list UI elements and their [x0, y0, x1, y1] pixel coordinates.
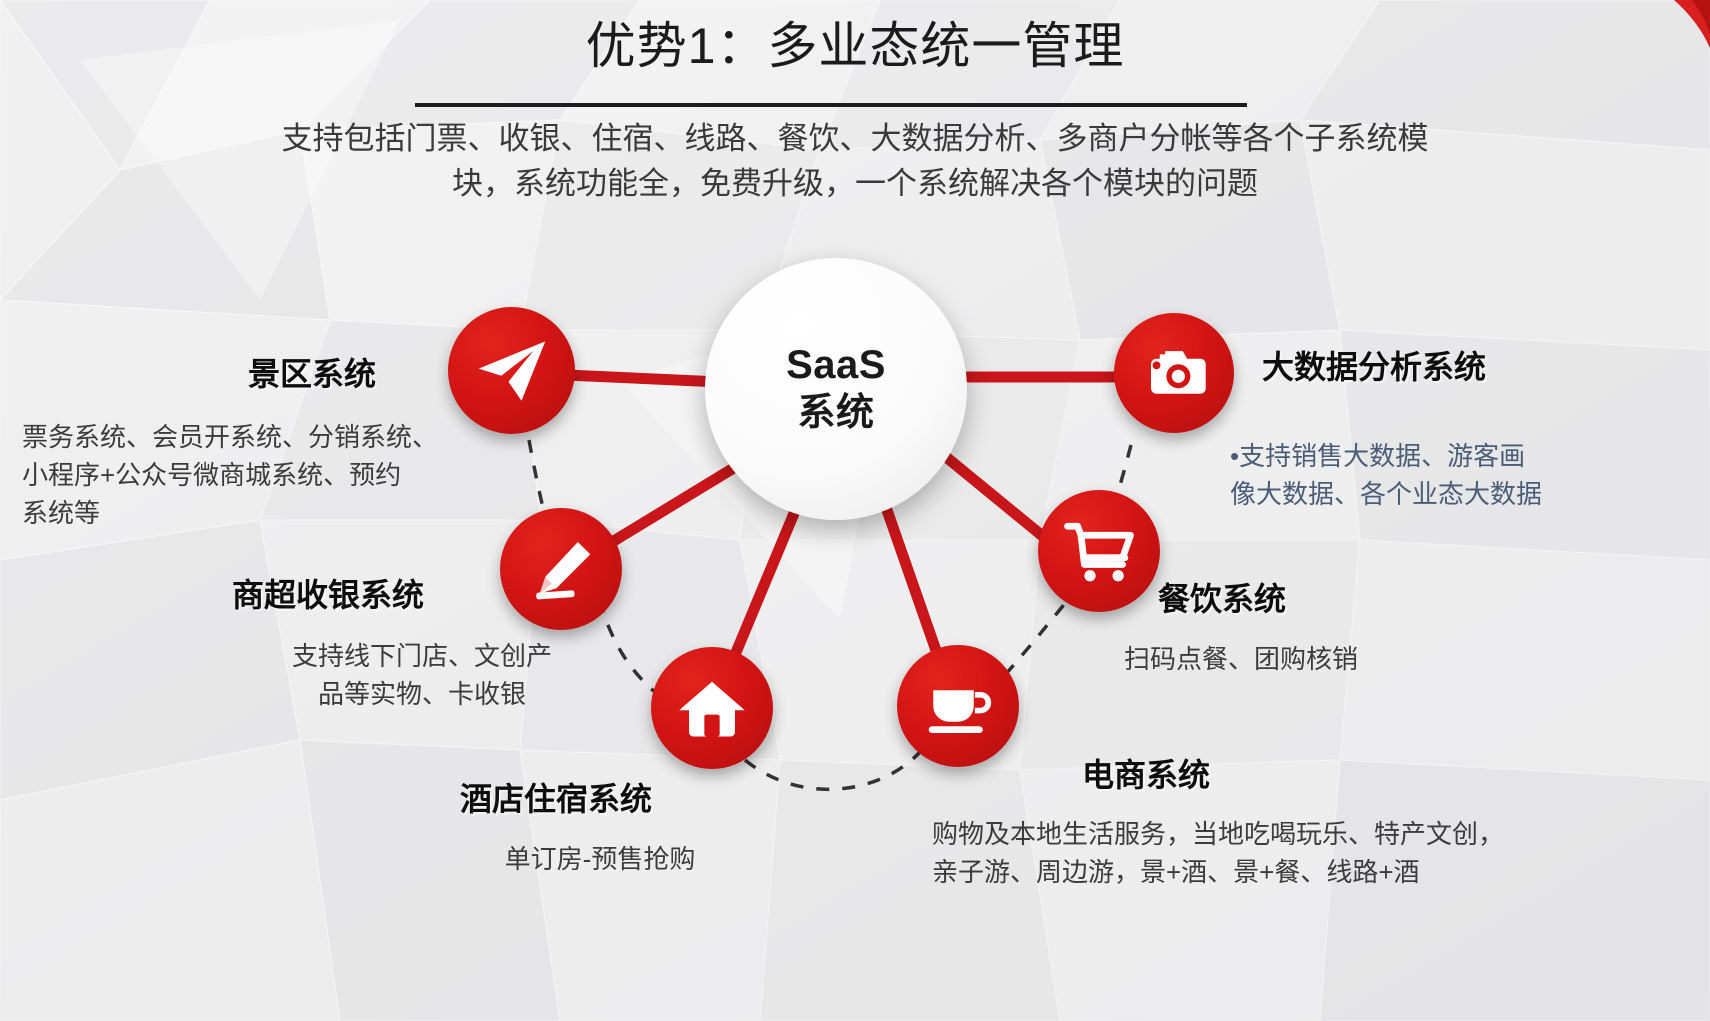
label-catering-system: 餐饮系统 — [1158, 580, 1286, 618]
hub-label-line2: 系统 — [797, 389, 874, 437]
desc-bigdata-system: •支持销售大数据、游客画 像大数据、各个业态大数据 — [1230, 437, 1700, 513]
hub-label-line1: SaaS — [786, 341, 886, 389]
desc-scenic-system: 票务系统、会员开系统、分销系统、 小程序+公众号微商城系统、预约 系统等 — [22, 418, 492, 532]
node-bigdata-system[interactable] — [1114, 313, 1234, 433]
node-scenic-system[interactable] — [448, 307, 575, 434]
desc-line: 系统等 — [22, 494, 492, 532]
dashed-ecommerce-catering — [1005, 600, 1068, 675]
label-scenic-system: 景区系统 — [248, 355, 376, 393]
desc-line: 像大数据、各个业态大数据 — [1230, 475, 1700, 513]
shopping-cart-icon — [1063, 515, 1135, 587]
camera-icon — [1139, 338, 1209, 408]
label-hotel-system: 酒店住宿系统 — [460, 780, 652, 818]
page-subtitle: 支持包括门票、收银、住宿、线路、餐饮、大数据分析、多商户分帐等各个子系统模 块，… — [150, 116, 1560, 206]
hub-saas-system[interactable]: SaaS 系统 — [705, 258, 967, 520]
desc-line: 扫码点餐、团购核销 — [1124, 640, 1594, 678]
desc-line: 亲子游、周边游，景+酒、景+餐、线路+酒 — [932, 853, 1632, 891]
label-retail-cashier-system: 商超收银系统 — [232, 576, 424, 614]
desc-line: 购物及本地生活服务，当地吃喝玩乐、特产文创， — [932, 815, 1632, 853]
desc-line: 小程序+公众号微商城系统、预约 — [22, 456, 492, 494]
corner-swoosh-icon — [1640, 0, 1710, 70]
subtitle-line-1: 支持包括门票、收银、住宿、线路、餐饮、大数据分析、多商户分帐等各个子系统模 — [150, 116, 1560, 161]
node-ecommerce-system[interactable] — [897, 645, 1019, 767]
node-catering-system[interactable] — [1038, 490, 1160, 612]
desc-line: 单订房-预售抢购 — [430, 840, 770, 878]
node-retail-cashier-system[interactable] — [500, 508, 622, 630]
desc-hotel-system: 单订房-预售抢购 — [430, 840, 770, 878]
node-hotel-system[interactable] — [651, 647, 773, 769]
desc-line: 票务系统、会员开系统、分销系统、 — [22, 418, 492, 456]
coffee-cup-icon — [922, 670, 994, 742]
pencil-icon — [525, 533, 597, 605]
paper-plane-icon — [474, 333, 550, 409]
desc-catering-system: 扫码点餐、团购核销 — [1124, 640, 1594, 678]
home-icon — [677, 673, 747, 743]
desc-retail-cashier-system: 支持线下门店、文创产 品等实物、卡收银 — [212, 637, 632, 713]
label-ecommerce-system: 电商系统 — [1082, 756, 1210, 794]
desc-line: 支持线下门店、文创产 — [212, 637, 632, 675]
label-bigdata-system: 大数据分析系统 — [1262, 348, 1486, 386]
subtitle-line-2: 块，系统功能全，免费升级，一个系统解决各个模块的问题 — [150, 161, 1560, 206]
page-title: 优势1：多业态统一管理 — [0, 14, 1710, 78]
desc-line: 品等实物、卡收银 — [212, 675, 632, 713]
title-divider — [415, 103, 1247, 107]
desc-line: •支持销售大数据、游客画 — [1230, 437, 1700, 475]
desc-ecommerce-system: 购物及本地生活服务，当地吃喝玩乐、特产文创， 亲子游、周边游，景+酒、景+餐、线… — [932, 815, 1632, 891]
dashed-hotel-ecommerce — [745, 752, 920, 789]
